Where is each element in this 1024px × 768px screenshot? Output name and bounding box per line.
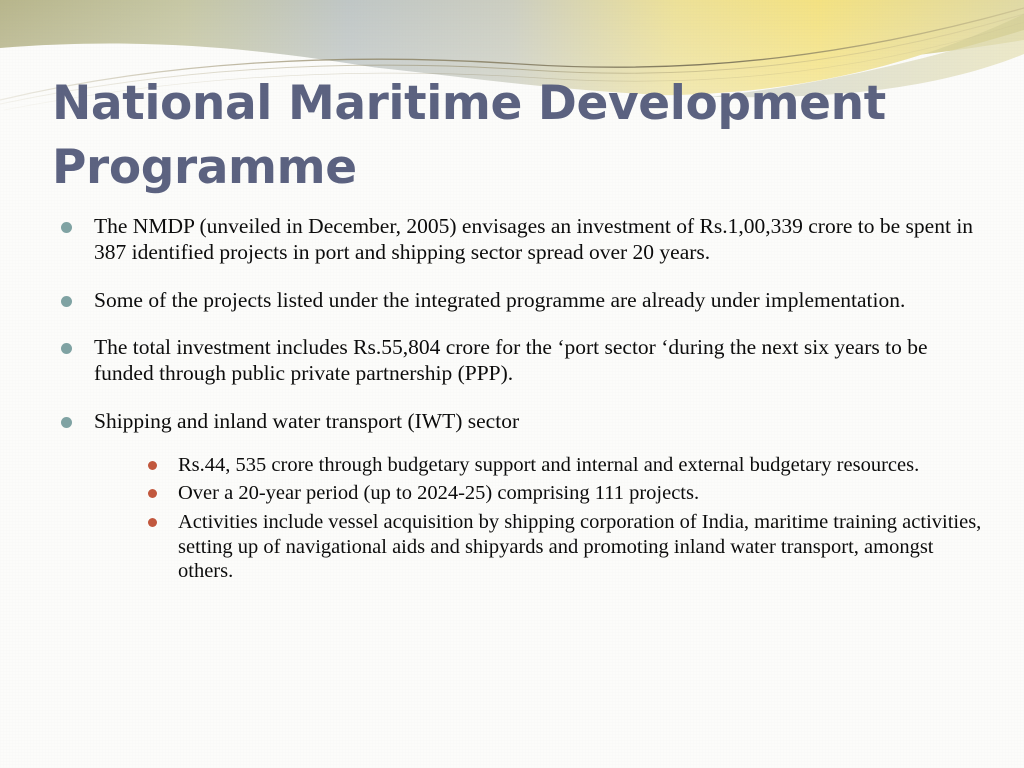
bullet-dot-icon: [61, 343, 72, 354]
bullet-dot-icon: [61, 296, 72, 307]
bullet-dot-icon: [61, 417, 72, 428]
presentation-slide: National Maritime Development Programme …: [0, 0, 1024, 768]
bullet-text: Shipping and inland water transport (IWT…: [94, 409, 986, 435]
slide-body: The NMDP (unveiled in December, 2005) en…: [54, 214, 986, 584]
bullet-text: The total investment includes Rs.55,804 …: [94, 335, 986, 387]
bullet-list: The NMDP (unveiled in December, 2005) en…: [54, 214, 986, 584]
list-item: The total investment includes Rs.55,804 …: [54, 335, 986, 387]
bullet-text: The NMDP (unveiled in December, 2005) en…: [94, 214, 986, 266]
sub-bullet-text: Rs.44, 535 crore through budgetary suppo…: [178, 453, 986, 478]
sub-bullet-text: Activities include vessel acquisition by…: [178, 510, 986, 584]
list-item: Some of the projects listed under the in…: [54, 288, 986, 314]
title-block: National Maritime Development Programme: [52, 72, 952, 200]
list-item: The NMDP (unveiled in December, 2005) en…: [54, 214, 986, 266]
list-item: Shipping and inland water transport (IWT…: [54, 409, 986, 584]
sub-bullet-list: Rs.44, 535 crore through budgetary suppo…: [144, 453, 986, 584]
bullet-text: Some of the projects listed under the in…: [94, 288, 986, 314]
sub-list-item: Over a 20-year period (up to 2024-25) co…: [144, 481, 986, 506]
sub-bullet-text: Over a 20-year period (up to 2024-25) co…: [178, 481, 986, 506]
sub-bullet-dot-icon: [148, 518, 157, 527]
page-title: National Maritime Development Programme: [52, 72, 952, 200]
sub-bullet-dot-icon: [148, 461, 157, 470]
sub-bullet-dot-icon: [148, 489, 157, 498]
bullet-dot-icon: [61, 222, 72, 233]
sub-list-item: Rs.44, 535 crore through budgetary suppo…: [144, 453, 986, 478]
sub-list-item: Activities include vessel acquisition by…: [144, 510, 986, 584]
